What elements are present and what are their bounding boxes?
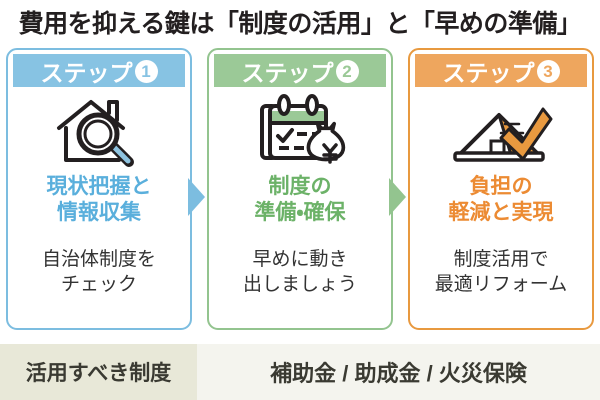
step-2-heading-line1: 制度の (209, 174, 391, 200)
step-card-1: ステップ1 現状把握と 情報収集 自治体制度を チェック (6, 48, 192, 330)
bottom-bar: 活用すべき制度 補助金 / 助成金 / 火災保険 (0, 344, 600, 400)
step-2-description: 早めに動き 出しましょう (209, 248, 391, 297)
step-2-desc-line2: 出しましょう (209, 273, 391, 298)
step-3-desc-line2: 最適リフォーム (410, 273, 592, 298)
step-1-header: ステップ1 (13, 54, 185, 87)
step-2-desc-line1: 早めに動き (209, 248, 391, 273)
step-1-heading-line2: 情報収集 (8, 200, 190, 226)
house-roof-check-icon (410, 91, 592, 173)
step-1-desc-line1: 自治体制度を (8, 248, 190, 273)
bottom-bar-right-label: 補助金 / 助成金 / 火災保険 (197, 344, 600, 400)
arrow-step1-to-step2-icon (188, 178, 205, 216)
step-1-description: 自治体制度を チェック (8, 248, 190, 297)
step-2-number-badge: 2 (336, 60, 359, 83)
step-1-number-badge: 1 (135, 60, 158, 83)
step-3-header: ステップ3 (415, 54, 587, 87)
step-2-label: ステップ (242, 54, 334, 88)
step-1-label: ステップ (41, 54, 133, 88)
step-2-heading: 制度の 準備・確保 (209, 174, 391, 227)
bottom-bar-left-label: 活用すべき制度 (0, 344, 197, 400)
step-1-desc-line2: チェック (8, 273, 190, 298)
step-2-heading-line2: 準備・確保 (209, 200, 391, 226)
step-1-heading-line1: 現状把握と (8, 174, 190, 200)
step-1-heading: 現状把握と 情報収集 (8, 174, 190, 227)
step-card-3: ステップ3 負担の 軽減と実現 制度活用で 最適リフォーム (408, 48, 594, 330)
arrow-step2-to-step3-icon (389, 178, 406, 216)
step-card-2: ステップ2 (207, 48, 393, 330)
step-3-heading: 負担の 軽減と実現 (410, 174, 592, 227)
steps-container: ステップ1 現状把握と 情報収集 自治体制度を チェック (0, 48, 600, 332)
page-title: 費用を抑える鍵は「制度の活用」と「早めの準備」 (0, 0, 600, 44)
step-3-number-badge: 3 (537, 60, 560, 83)
step-3-description: 制度活用で 最適リフォーム (410, 248, 592, 297)
step-3-heading-line1: 負担の (410, 174, 592, 200)
step-3-label: ステップ (443, 54, 535, 88)
step-3-desc-line1: 制度活用で (410, 248, 592, 273)
house-magnifier-icon (8, 91, 190, 173)
step-3-heading-line2: 軽減と実現 (410, 200, 592, 226)
step-2-header: ステップ2 (214, 54, 386, 87)
calendar-money-bag-icon (209, 91, 391, 173)
